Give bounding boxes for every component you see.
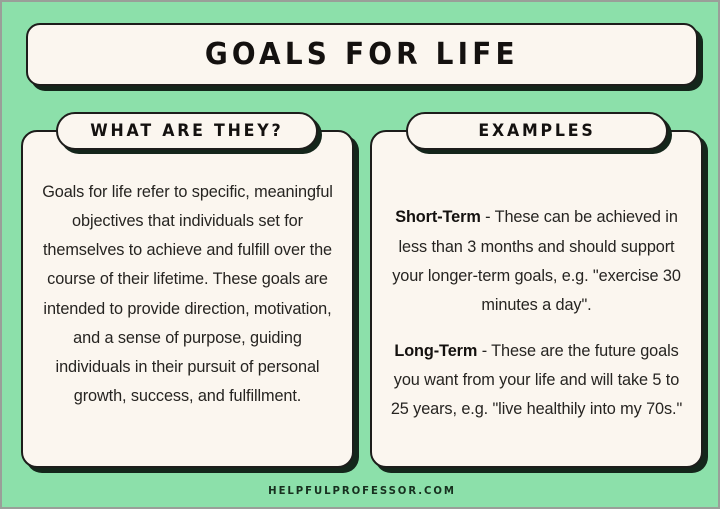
footer: HELPFULPROFESSOR.COM: [2, 481, 720, 499]
footer-attribution: HELPFULPROFESSOR.COM: [268, 484, 456, 497]
infographic-poster: GOALS FOR LIFE Goals for life refer to s…: [0, 0, 720, 509]
header-pill-examples: EXAMPLES: [406, 112, 668, 150]
card-examples: Short-Term - These can be achieved in le…: [370, 130, 703, 468]
header-label-what-are-they: WHAT ARE THEY?: [90, 121, 283, 141]
page-title: GOALS FOR LIFE: [205, 37, 519, 72]
paragraph-text: Goals for life refer to specific, meanin…: [42, 183, 333, 405]
paragraph-definition: Goals for life refer to specific, meanin…: [39, 178, 336, 411]
paragraph-long-term: Long-Term - These are the future goals y…: [388, 337, 685, 424]
content-columns: Goals for life refer to specific, meanin…: [2, 112, 720, 472]
card-body-what-are-they: Goals for life refer to specific, meanin…: [23, 178, 352, 456]
title-banner: GOALS FOR LIFE: [26, 23, 698, 86]
lead-short-term: Short-Term: [395, 208, 481, 226]
header-label-examples: EXAMPLES: [478, 121, 595, 141]
header-pill-what-are-they: WHAT ARE THEY?: [56, 112, 318, 150]
card-body-examples: Short-Term - These can be achieved in le…: [372, 172, 701, 456]
card-what-are-they: Goals for life refer to specific, meanin…: [21, 130, 354, 468]
lead-long-term: Long-Term: [394, 342, 477, 360]
paragraph-short-term: Short-Term - These can be achieved in le…: [388, 203, 685, 320]
